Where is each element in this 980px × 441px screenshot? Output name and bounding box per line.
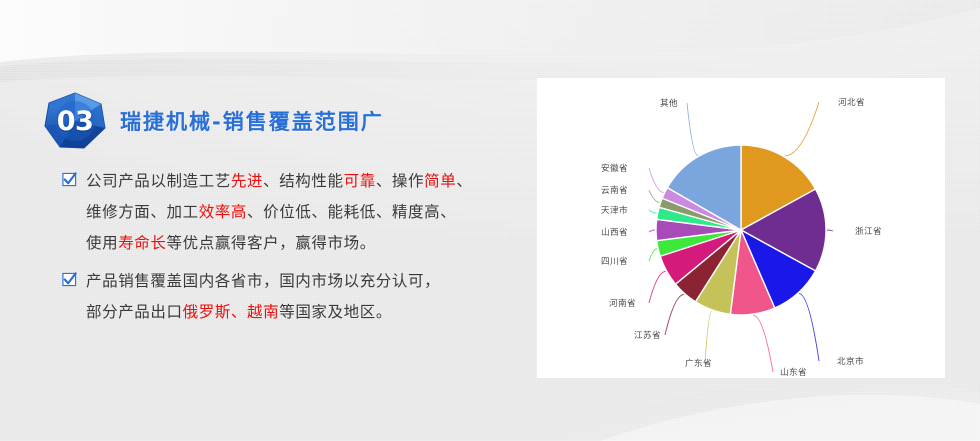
section-number-text: 03	[44, 92, 106, 150]
pie-label-北京市: 北京市	[837, 355, 864, 367]
pie-label-河南省: 河南省	[609, 297, 636, 309]
leader-line-河南省	[649, 271, 666, 303]
pie-label-四川省: 四川省	[601, 255, 628, 267]
bullet-line: 维修方面、加工效率高、价位低、能耗低、精度高、	[86, 197, 472, 228]
bullet-list: 公司产品以制造工艺先进、结构性能可靠、操作简单、 维修方面、加工效率高、价位低、…	[62, 166, 532, 335]
leader-line-广东省	[705, 311, 712, 363]
section-title: 瑞捷机械-销售覆盖范围广	[120, 106, 384, 136]
section-header: 03 瑞捷机械-销售覆盖范围广	[44, 92, 384, 150]
pie-label-云南省: 云南省	[601, 184, 628, 196]
chart-panel: 河北省浙江省北京市山东省广东省江苏省河南省四川省山西省天津市云南省安徽省其他	[537, 78, 945, 378]
bullet-text-1: 产品销售覆盖国内各省市，国内市场以充分认可， 部分产品出口俄罗斯、越南等国家及地…	[86, 266, 440, 328]
leader-line-北京市	[799, 294, 819, 361]
bullet-line: 产品销售覆盖国内各省市，国内市场以充分认可，	[86, 266, 440, 297]
leader-line-山西省	[649, 230, 655, 232]
bullet-item: 公司产品以制造工艺先进、结构性能可靠、操作简单、 维修方面、加工效率高、价位低、…	[62, 166, 532, 259]
pie-chart-svg: 河北省浙江省北京市山东省广东省江苏省河南省四川省山西省天津市云南省安徽省其他	[537, 78, 945, 378]
pie-label-江苏省: 江苏省	[634, 329, 661, 341]
leader-line-云南省	[649, 190, 660, 202]
check-box-icon	[62, 272, 77, 287]
left-content: 03 瑞捷机械-销售覆盖范围广 公司产品以制造工艺先进、结构性能可靠、操作简单、…	[0, 0, 540, 441]
leader-line-安徽省	[649, 168, 664, 192]
bullet-text-0: 公司产品以制造工艺先进、结构性能可靠、操作简单、 维修方面、加工效率高、价位低、…	[86, 166, 472, 259]
pie-label-河北省: 河北省	[838, 96, 865, 108]
pie-label-浙江省: 浙江省	[855, 225, 882, 237]
pie-chart: 河北省浙江省北京市山东省广东省江苏省河南省四川省山西省天津市云南省安徽省其他	[537, 78, 945, 378]
bullet-line: 部分产品出口俄罗斯、越南等国家及地区。	[86, 297, 440, 328]
bullet-item: 产品销售覆盖国内各省市，国内市场以充分认可， 部分产品出口俄罗斯、越南等国家及地…	[62, 266, 532, 328]
pie-label-山西省: 山西省	[601, 226, 628, 238]
pie-slices	[656, 145, 826, 315]
pie-label-其他: 其他	[660, 97, 678, 109]
leader-line-浙江省	[827, 230, 833, 231]
leader-line-河北省	[785, 102, 819, 156]
slide-canvas: 03 瑞捷机械-销售覆盖范围广 公司产品以制造工艺先进、结构性能可靠、操作简单、…	[0, 0, 980, 441]
pie-label-天津市: 天津市	[601, 204, 628, 216]
pie-label-广东省: 广东省	[685, 357, 712, 369]
bullet-line: 公司产品以制造工艺先进、结构性能可靠、操作简单、	[86, 166, 472, 197]
leader-line-山东省	[753, 315, 773, 372]
section-number-badge: 03	[44, 92, 106, 150]
pie-label-安徽省: 安徽省	[601, 162, 628, 174]
leader-line-江苏省	[665, 295, 684, 335]
check-box-icon	[62, 172, 77, 187]
pie-label-山东省: 山东省	[780, 366, 807, 378]
leader-line-四川省	[649, 249, 657, 261]
bullet-line: 使用寿命长等优点赢得客户，赢得市场。	[86, 228, 472, 259]
leader-line-天津市	[649, 210, 657, 213]
leader-line-其他	[687, 103, 698, 156]
